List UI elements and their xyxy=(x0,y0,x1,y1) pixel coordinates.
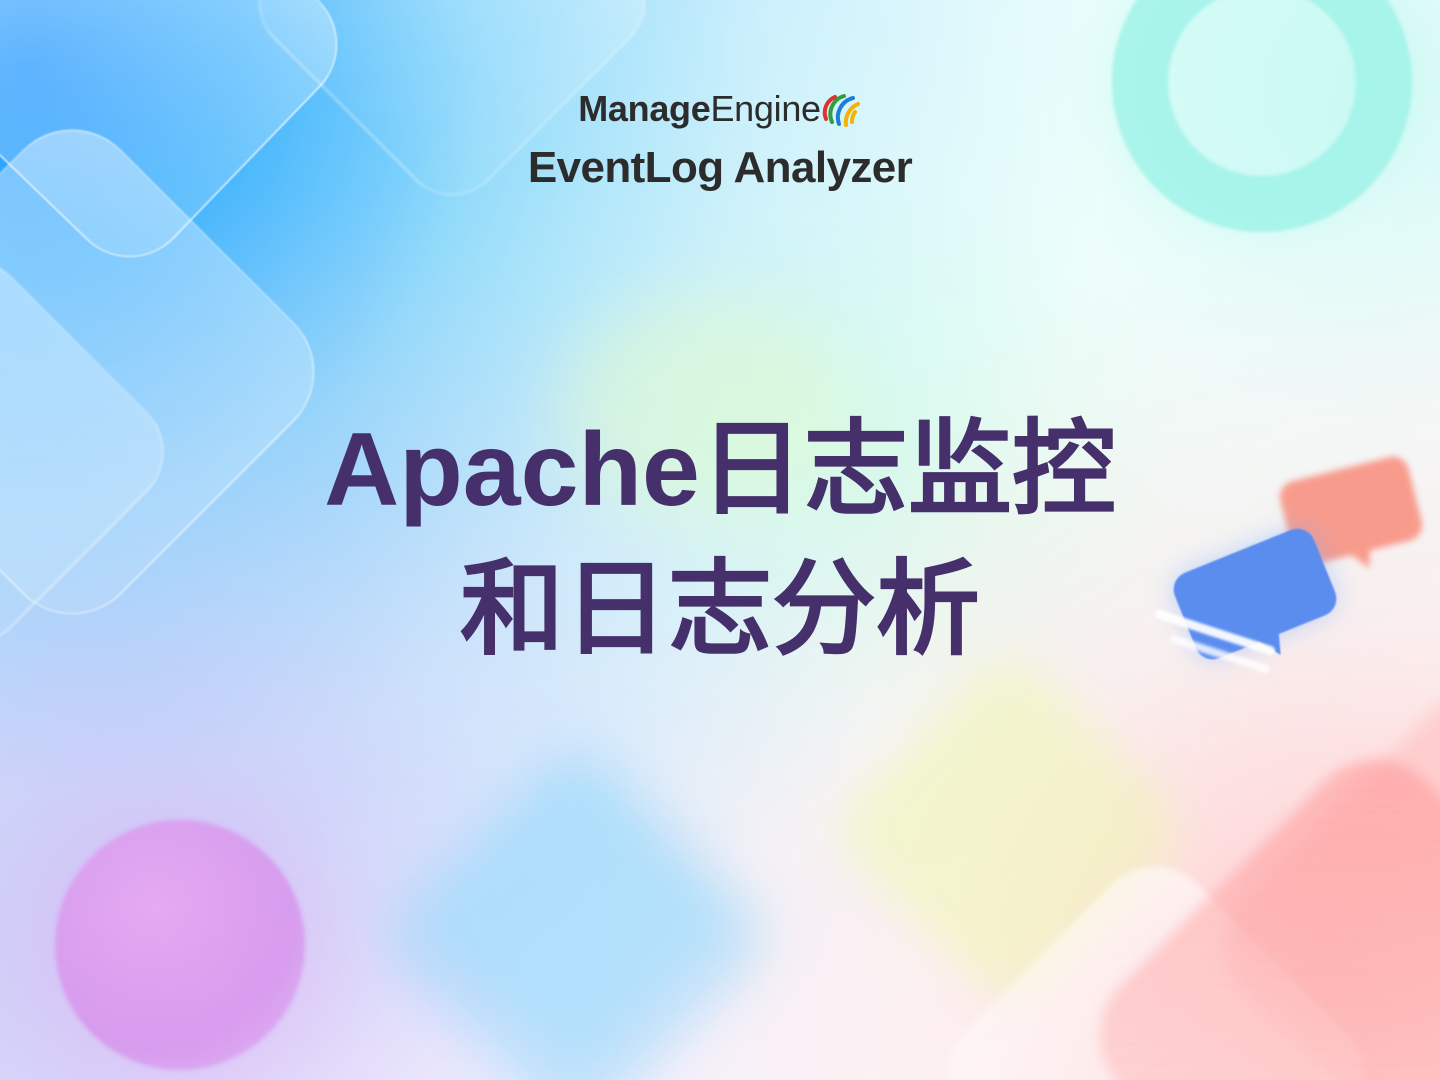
title-line-2: 和日志分析 xyxy=(0,540,1440,680)
title-line-1: Apache日志监控 xyxy=(0,400,1440,540)
logo-brand-manage: Manage xyxy=(578,88,710,129)
pink-circle-bottom-left xyxy=(55,820,305,1070)
logo-brand-engine: Engine xyxy=(710,88,820,129)
manageengine-swoosh-icon xyxy=(822,89,862,136)
logo-product-name: EventLog Analyzer xyxy=(0,142,1440,194)
manageengine-logo: ManageEngine EventLog Analyzer xyxy=(0,88,1440,194)
page-title: Apache日志监控 和日志分析 xyxy=(0,400,1440,680)
logo-brand-line: ManageEngine xyxy=(578,88,862,136)
presentation-slide: ManageEngine EventLog Analyzer Apache日志监… xyxy=(0,0,1440,1080)
